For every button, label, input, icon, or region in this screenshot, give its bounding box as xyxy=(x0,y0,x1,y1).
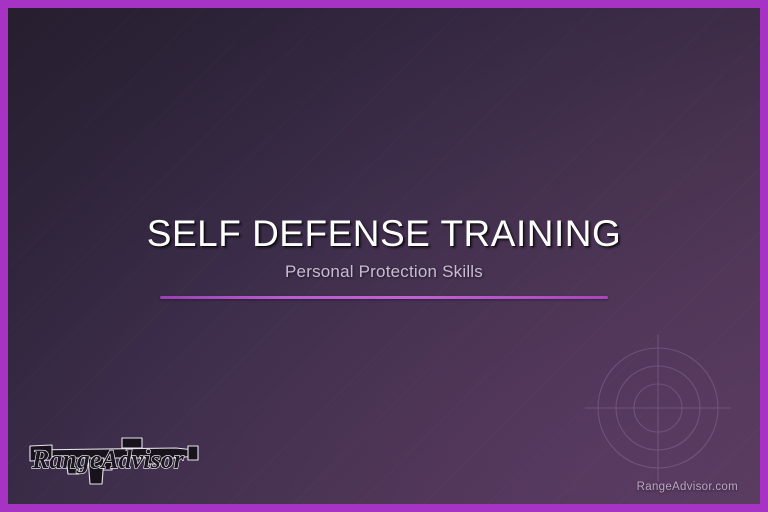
rifle-silhouette-icon: RangeAdvisor xyxy=(26,426,202,490)
logo-wordmark: RangeAdvisor xyxy=(31,445,185,474)
watermark-text: RangeAdvisor.com xyxy=(637,481,738,493)
page-title: SELF DEFENSE TRAINING xyxy=(8,213,760,254)
title-block: SELF DEFENSE TRAINING Personal Protectio… xyxy=(8,213,760,299)
title-divider xyxy=(160,296,608,299)
slide-canvas: SELF DEFENSE TRAINING Personal Protectio… xyxy=(8,8,760,504)
slide-frame: SELF DEFENSE TRAINING Personal Protectio… xyxy=(0,0,768,512)
page-subtitle: Personal Protection Skills xyxy=(8,262,760,282)
crosshair-target-icon xyxy=(585,335,731,481)
